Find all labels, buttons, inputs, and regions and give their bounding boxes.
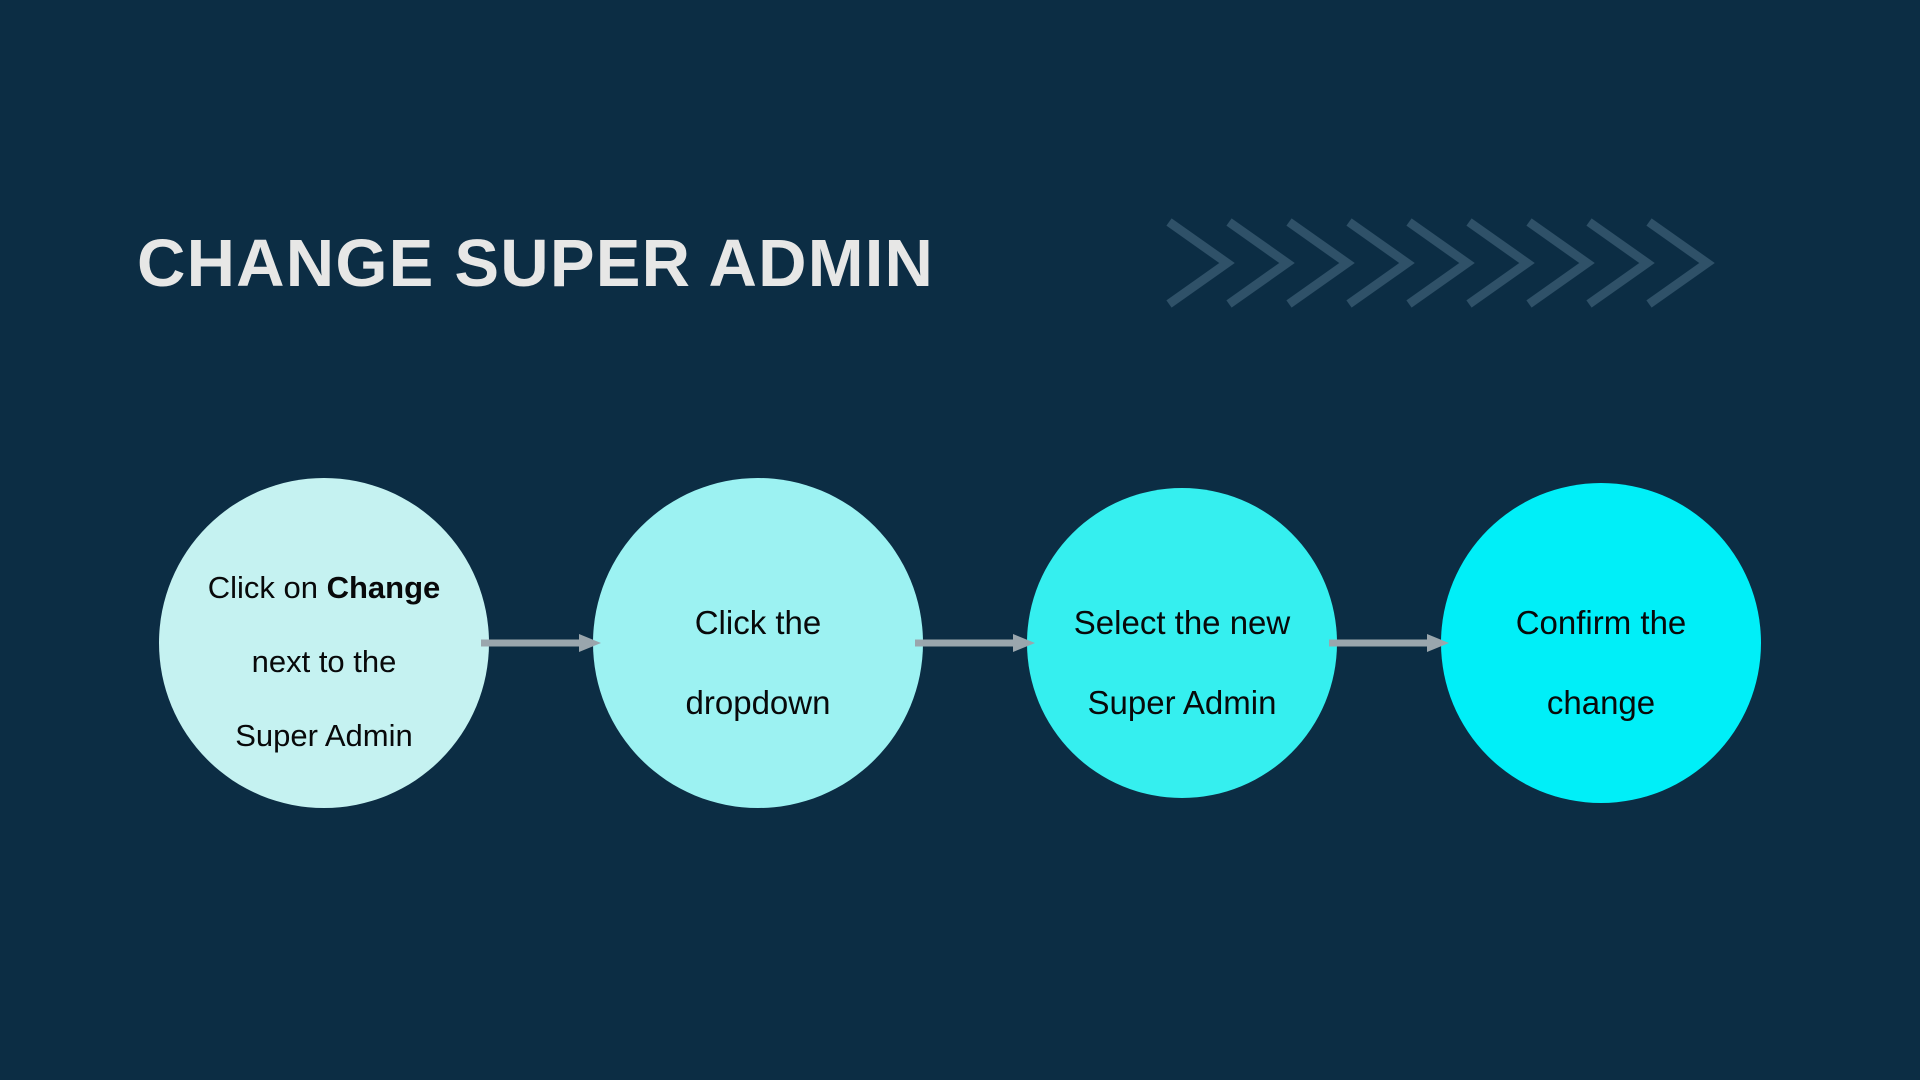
step-3-line-2: Super Admin <box>1088 684 1277 721</box>
step-circle-click-change[interactable]: Click on Change next to the Super Admin <box>159 478 489 808</box>
chevron-decoration <box>1165 208 1785 318</box>
arrow-right-icon <box>1329 630 1449 656</box>
step-label-2: Click the dropdown <box>678 564 839 722</box>
arrow-right-icon <box>915 630 1035 656</box>
step-label-1: Click on Change next to the Super Admin <box>200 531 449 754</box>
step-circle-select-new-super-admin[interactable]: Select the new Super Admin <box>1027 488 1337 798</box>
step-2-line-2: dropdown <box>686 684 831 721</box>
step-4-line-2: change <box>1547 684 1655 721</box>
step-1-line-3: Super Admin <box>235 718 413 753</box>
arrow-right-icon <box>481 630 601 656</box>
flow-arrow-2 <box>915 630 1035 656</box>
step-label-4: Confirm the change <box>1508 564 1695 722</box>
chevron-band-icon <box>1165 208 1785 318</box>
page-title: CHANGE SUPER ADMIN <box>137 230 934 297</box>
step-circle-click-dropdown[interactable]: Click the dropdown <box>593 478 923 808</box>
title-block: CHANGE SUPER ADMIN <box>137 218 1137 308</box>
step-label-3: Select the new Super Admin <box>1066 564 1298 722</box>
process-flow: Click on Change next to the Super Admin … <box>0 478 1920 808</box>
step-circle-confirm-change[interactable]: Confirm the change <box>1441 483 1761 803</box>
flow-arrow-3 <box>1329 630 1449 656</box>
step-1-line-1-bold: Change <box>327 570 441 605</box>
slide-canvas: CHANGE SUPER ADMIN Click on Change <box>0 0 1920 1080</box>
step-2-line-1: Click the <box>695 604 822 641</box>
flow-arrow-1 <box>481 630 601 656</box>
step-1-line-1-prefix: Click on <box>208 570 327 605</box>
step-3-line-1: Select the new <box>1074 604 1290 641</box>
step-4-line-1: Confirm the <box>1516 604 1687 641</box>
step-1-line-2: next to the <box>252 644 397 679</box>
